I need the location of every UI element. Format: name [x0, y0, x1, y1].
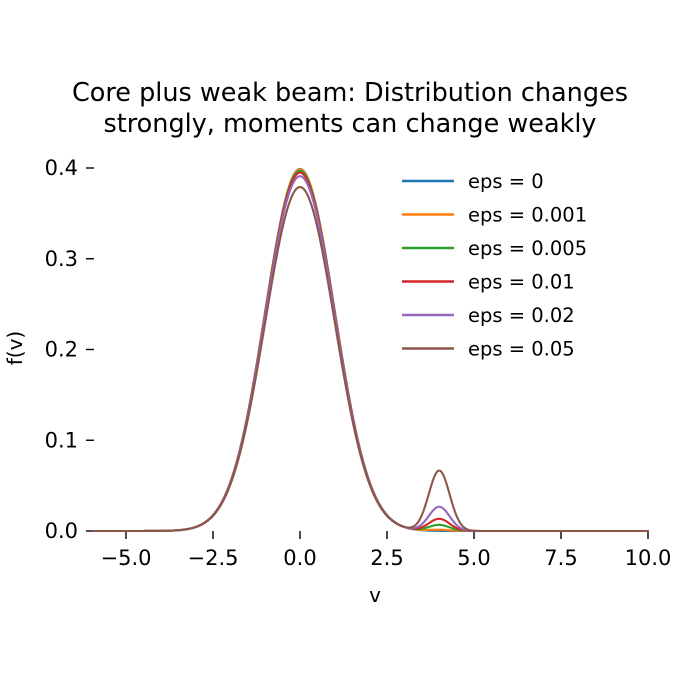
legend-label-0[interactable]: eps = 0: [468, 170, 544, 193]
y-tick-label: 0.0: [45, 519, 78, 543]
legend-label-3[interactable]: eps = 0.01: [468, 271, 575, 294]
plot-area: −5.0−2.50.02.55.07.510.0 0.00.10.20.30.4…: [0, 0, 700, 700]
x-tick-label: 10.0: [625, 546, 672, 570]
x-tick-label: 0.0: [283, 546, 316, 570]
y-axis-label: f(v): [3, 331, 27, 365]
x-tick-label: −5.0: [101, 546, 152, 570]
x-tick-label: 5.0: [457, 546, 490, 570]
x-axis-label: v: [369, 583, 381, 607]
legend-label-4[interactable]: eps = 0.02: [468, 304, 575, 327]
y-tick-label: 0.4: [45, 156, 78, 180]
x-tick-label: 7.5: [544, 546, 577, 570]
x-tick-label: 2.5: [370, 546, 403, 570]
y-tick-label: 0.2: [45, 338, 78, 362]
y-tick-label: 0.1: [45, 428, 78, 452]
legend-label-1[interactable]: eps = 0.001: [468, 204, 587, 227]
x-tick-label: −2.5: [188, 546, 239, 570]
legend-label-2[interactable]: eps = 0.005: [468, 237, 587, 260]
x-axis-ticks: −5.0−2.50.02.55.07.510.0: [101, 531, 672, 570]
y-axis-ticks: 0.00.10.20.30.4: [45, 156, 94, 543]
legend-label-5[interactable]: eps = 0.05: [468, 338, 575, 361]
y-tick-label: 0.3: [45, 247, 78, 271]
legend: eps = 0eps = 0.001eps = 0.005eps = 0.01e…: [402, 170, 587, 361]
figure-canvas: Core plus weak beam: Distribution change…: [0, 0, 700, 700]
